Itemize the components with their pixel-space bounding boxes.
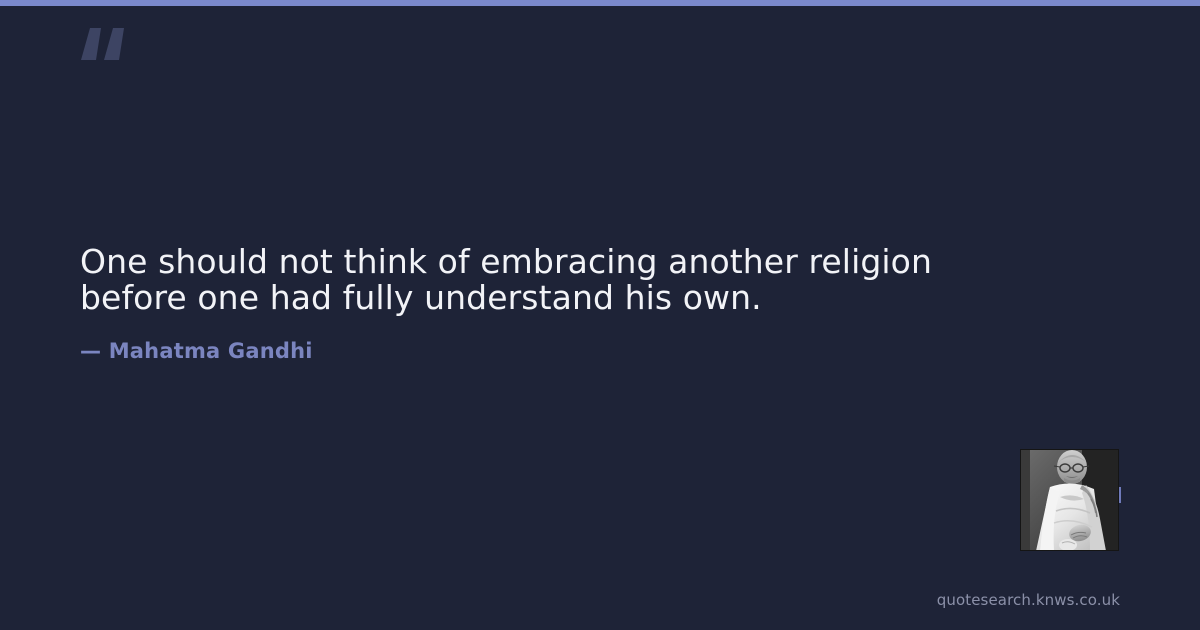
portrait-edge-marker bbox=[1119, 487, 1121, 503]
quote-card: One should not think of embracing anothe… bbox=[0, 0, 1200, 630]
open-quotation-mark-icon bbox=[80, 24, 140, 84]
source-watermark: quotesearch.knws.co.uk bbox=[937, 590, 1120, 610]
quote-text: One should not think of embracing anothe… bbox=[80, 244, 980, 316]
quote-text-block: One should not think of embracing anothe… bbox=[80, 244, 980, 316]
top-accent-bar bbox=[0, 0, 1200, 6]
author-portrait bbox=[1020, 449, 1119, 551]
quote-attribution: — Mahatma Gandhi bbox=[80, 337, 313, 365]
